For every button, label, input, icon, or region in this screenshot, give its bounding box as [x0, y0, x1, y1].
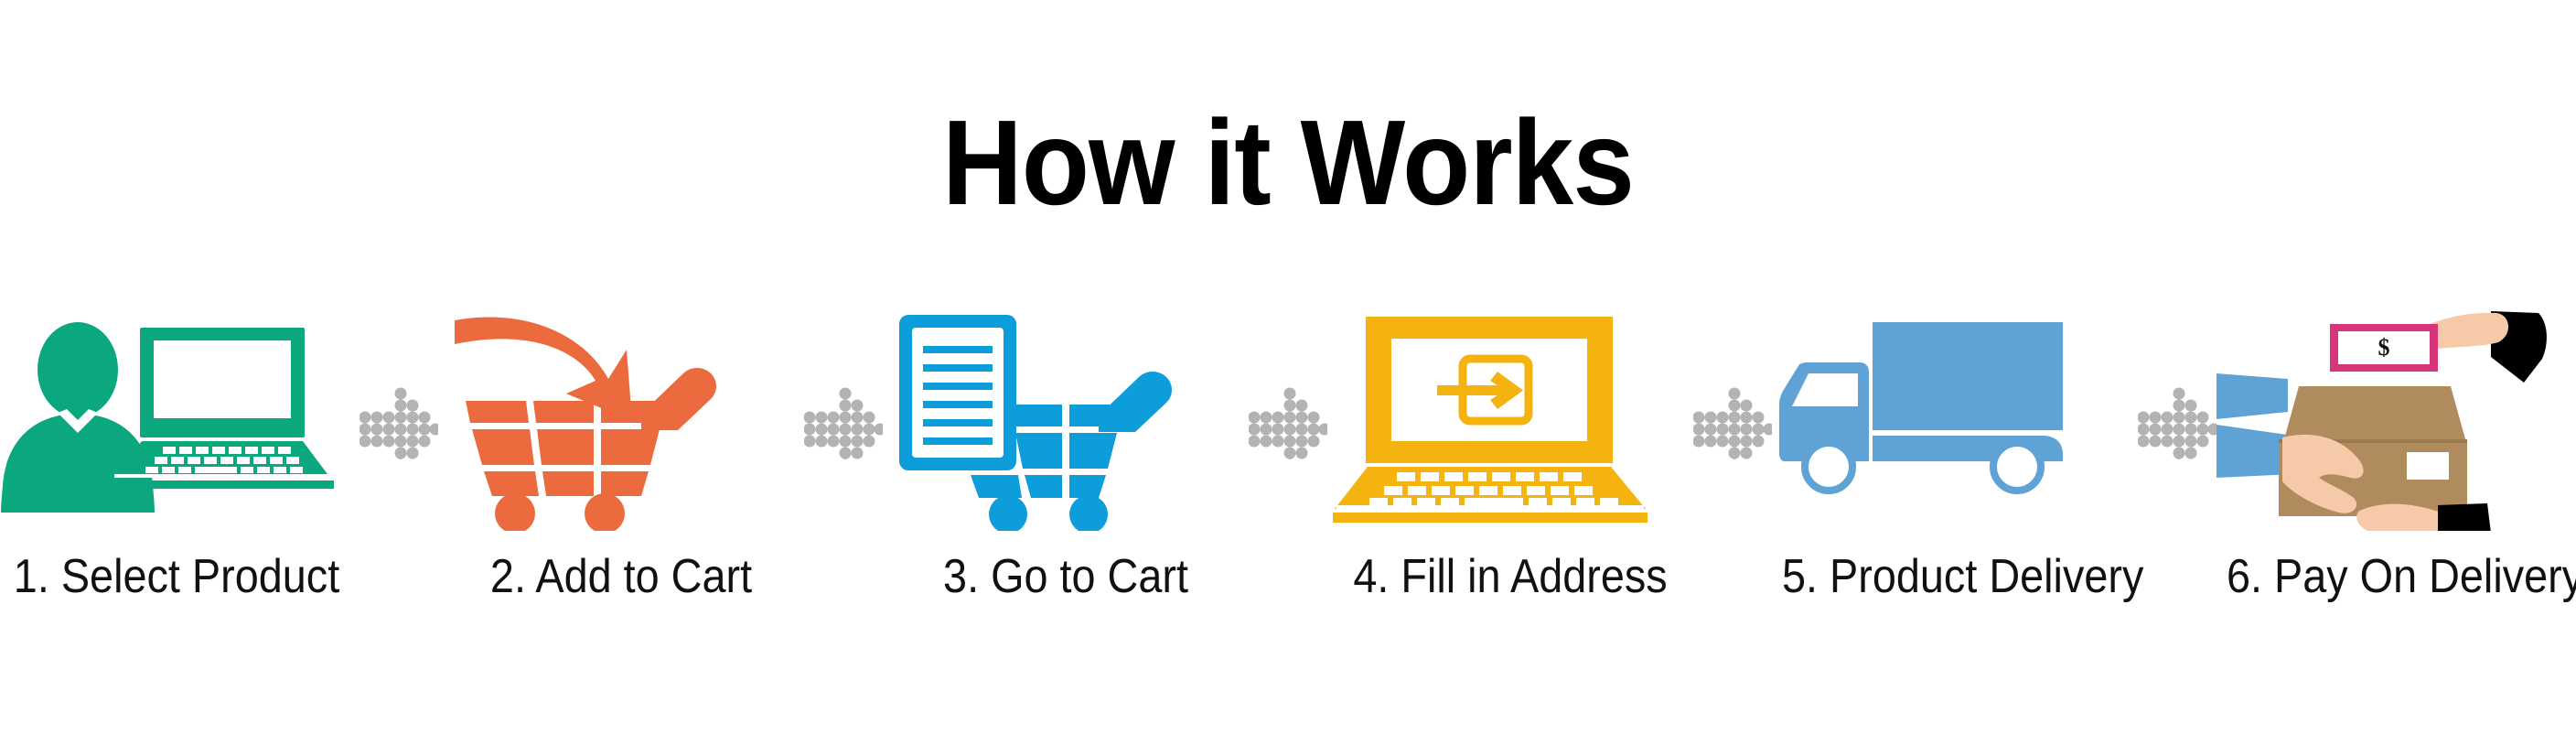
laptop-with-login-arrow-icon — [1327, 302, 1693, 531]
step-2-add-to-cart[interactable]: 2. Add to Cart — [438, 302, 804, 632]
steps-row: 1. Select Product — [0, 302, 2576, 632]
step-1-label: 1. Select Product — [4, 553, 349, 600]
dotted-arrow-right-icon — [360, 386, 438, 459]
dotted-arrow-right-icon — [1249, 386, 1327, 459]
cart-with-arrow-icon — [438, 302, 804, 531]
step-5-product-delivery[interactable]: 5. Product Delivery — [1772, 302, 2138, 632]
banknote: $ — [2330, 324, 2438, 372]
step-5-label: 5. Product Delivery — [1782, 553, 2128, 600]
box-top — [2284, 386, 2465, 439]
person-with-laptop-icon — [0, 302, 360, 531]
step-4-label: 4. Fill in Address — [1337, 553, 1683, 600]
step-3-go-to-cart[interactable]: 3. Go to Cart — [883, 302, 1249, 632]
delivery-truck-icon — [1772, 302, 2138, 531]
step-3-label: 3. Go to Cart — [893, 553, 1239, 600]
banknote-dollar-symbol: $ — [2378, 334, 2390, 361]
shipping-label — [2407, 452, 2449, 480]
separator-3 — [1249, 302, 1327, 632]
dotted-arrow-right-icon — [1693, 386, 1772, 459]
dotted-arrow-right-icon — [804, 386, 883, 459]
dotted-arrow-right-icon — [2138, 386, 2216, 459]
separator-5 — [2138, 302, 2216, 632]
sleeve-left-upper — [2216, 373, 2288, 419]
step-2-label: 2. Add to Cart — [448, 553, 794, 600]
hands-exchange-box-and-money-icon: $ — [2216, 302, 2576, 531]
step-1-select-product[interactable]: 1. Select Product — [0, 302, 360, 632]
separator-4 — [1693, 302, 1772, 632]
step-6-label: 6. Pay On Delivery — [2227, 553, 2572, 600]
page-title: How it Works — [103, 103, 2474, 223]
sleeve-lower — [2438, 503, 2491, 531]
document-with-cart-icon — [883, 302, 1249, 531]
separator-1 — [360, 302, 438, 632]
step-4-fill-in-address[interactable]: 4. Fill in Address — [1327, 302, 1693, 632]
step-6-pay-on-delivery[interactable]: $ — [2216, 302, 2576, 632]
separator-2 — [804, 302, 883, 632]
how-it-works-infographic: How it Works — [0, 0, 2576, 745]
